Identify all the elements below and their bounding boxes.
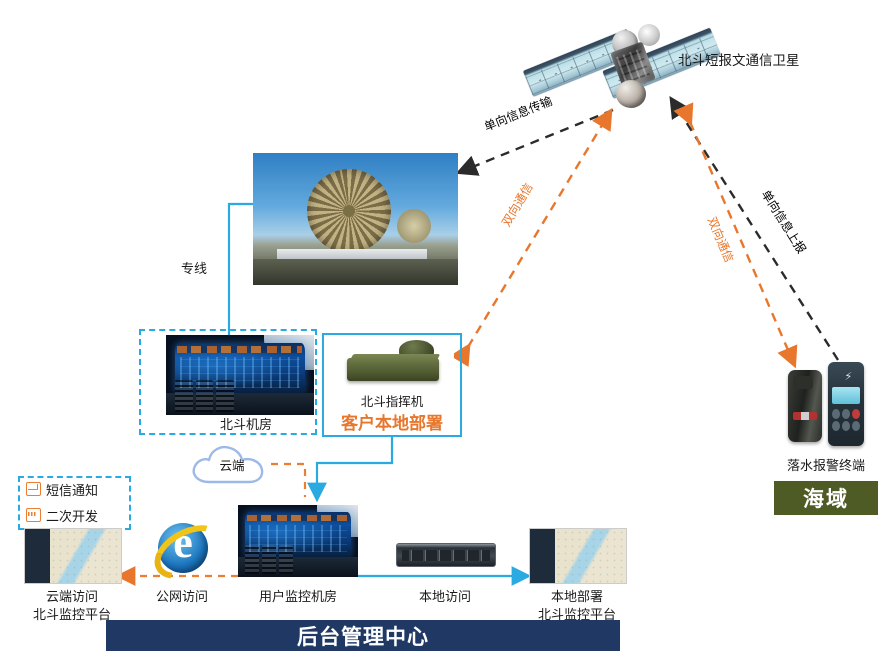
- cloud-platform-photo: [24, 528, 122, 584]
- link-two-way-left: [468, 112, 610, 347]
- satellite-label: 北斗短报文通信卫星: [678, 49, 800, 69]
- beidou-room-photo: [166, 335, 314, 415]
- management-center-banner: 后台管理中心: [106, 620, 620, 651]
- satellite-sphere-icon: [616, 80, 646, 108]
- internet-explorer-icon: [152, 519, 214, 577]
- link-two-way-right: [690, 122, 794, 364]
- link-commander-to-user-room: [317, 437, 392, 498]
- user-room-caption: 用户监控机房: [238, 586, 358, 605]
- sea-area-badge: 海域: [774, 481, 878, 515]
- commander-highlight-label: 客户本地部署: [322, 409, 462, 434]
- feature-item-sms: 短信通知: [18, 476, 131, 502]
- features-list: 短信通知 二次开发: [18, 476, 131, 530]
- cloud-platform-caption-1: 云端访问: [12, 586, 132, 605]
- local-platform-caption-1: 本地部署: [517, 586, 637, 605]
- local-platform-photo: [529, 528, 627, 584]
- code-icon: [26, 508, 41, 522]
- link-dedicated-line: [229, 204, 255, 348]
- cloud-icon: 云端: [187, 442, 277, 486]
- alarm-terminal-rugged-icon: [788, 370, 822, 442]
- user-room-photo: [238, 505, 358, 577]
- link-label-dedicated-line: 专线: [181, 258, 207, 277]
- feature-item-dev: 二次开发: [18, 502, 131, 528]
- commander-caption: 北斗指挥机: [322, 391, 462, 410]
- diagram-canvas: 北斗短报文通信卫星 单向信息传输 双向通信 单向信息上报 双向通信 专线 公网访…: [0, 0, 895, 657]
- link-label-two-way-left: 双向通信: [497, 180, 536, 230]
- bolt-icon: ⚡: [845, 370, 853, 383]
- sea-area-label: 海域: [803, 483, 849, 513]
- ground-station-photo: [253, 153, 458, 285]
- parabolic-dish-icon: [300, 162, 397, 259]
- beidou-room-caption: 北斗机房: [220, 414, 272, 433]
- link-label-report-one-way: 单向信息上报: [758, 186, 811, 256]
- rack-server-icon: [396, 543, 496, 567]
- cloud-label: 云端: [187, 455, 277, 474]
- link-label-two-way-right: 双向通信: [704, 214, 738, 265]
- sms-icon: [26, 482, 41, 496]
- beidou-commander-photo: [330, 337, 454, 393]
- link-label-local-access: 本地访问: [419, 586, 471, 605]
- alarm-terminal-handset-icon: ⚡: [828, 362, 864, 446]
- link-report-one-way: [672, 100, 838, 360]
- terminal-caption: 落水报警终端: [768, 455, 884, 474]
- parabolic-dish-secondary-icon: [397, 209, 431, 243]
- link-label-public-access: 公网访问: [156, 586, 208, 605]
- feature-label-dev: 二次开发: [46, 506, 98, 525]
- feature-label-sms: 短信通知: [46, 480, 98, 499]
- management-center-label: 后台管理中心: [297, 621, 429, 651]
